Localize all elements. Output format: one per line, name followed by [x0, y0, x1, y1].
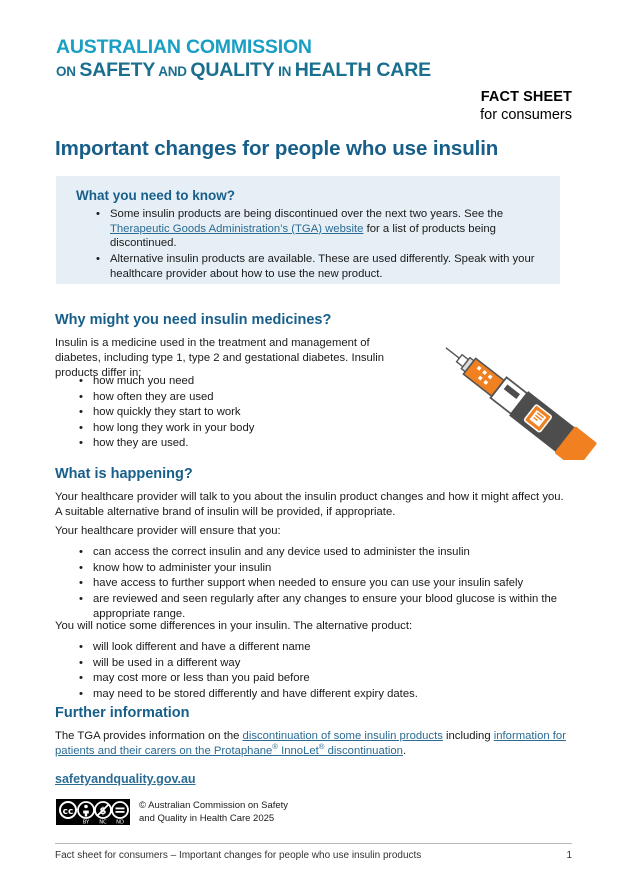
further-information-paragraph: The TGA provides information on the disc… [55, 729, 570, 759]
list-item: how often they are used [93, 390, 433, 406]
logo-word-quality: QUALITY [190, 59, 274, 81]
callout-box: What you need to know? Some insulin prod… [56, 176, 560, 284]
fact-sheet-audience: for consumers [480, 106, 572, 124]
fact-sheet-banner: FACT SHEET for consumers [480, 88, 572, 124]
callout-list: Some insulin products are being disconti… [76, 207, 542, 281]
happening-paragraph-1: Your healthcare provider will talk to yo… [55, 490, 570, 520]
list-item: how long they work in your body [93, 421, 433, 437]
list-item: how quickly they start to work [93, 405, 433, 421]
page-title: Important changes for people who use ins… [55, 137, 498, 161]
list-item: how much you need [93, 374, 433, 390]
tga-website-link[interactable]: Therapeutic Goods Administration’s (TGA)… [110, 223, 363, 235]
svg-text:ND: ND [116, 820, 124, 826]
list-item: can access the correct insulin and any d… [93, 545, 603, 561]
svg-text:NC: NC [99, 820, 107, 826]
list-item: may cost more or less than you paid befo… [93, 671, 603, 687]
logo-word-in: IN [275, 64, 295, 79]
logo-word-on: ON [56, 64, 79, 79]
heading-what-is-happening: What is happening? [55, 466, 193, 482]
insulin-pen-illustration [418, 330, 598, 460]
link-part-2: InnoLet [278, 745, 319, 757]
differences-bullet-list: will look different and have a different… [55, 640, 603, 702]
fact-sheet-page: AUSTRALIAN COMMISSION ON SAFETY AND QUAL… [0, 0, 627, 893]
commission-logo: AUSTRALIAN COMMISSION ON SAFETY AND QUAL… [56, 38, 431, 80]
insulin-pen-icon [418, 330, 598, 460]
logo-word-safety: SAFETY [79, 59, 155, 81]
copyright-line-1: © Australian Commission on Safety [139, 800, 288, 813]
list-item: will look different and have a different… [93, 640, 603, 656]
safetyandquality-site-link[interactable]: safetyandquality.gov.au [55, 772, 196, 786]
callout-item-text-before: Some insulin products are being disconti… [110, 208, 503, 220]
copyright-notice: © Australian Commission on Safety and Qu… [139, 800, 288, 826]
further-text-middle: including [443, 730, 494, 742]
list-item: have access to further support when need… [93, 576, 603, 592]
link-part-3: discontinuation [324, 745, 403, 757]
further-text-before: The TGA provides information on the [55, 730, 243, 742]
heading-further-information: Further information [55, 705, 190, 721]
happening-paragraph-3: You will notice some differences in your… [55, 619, 570, 634]
list-item: know how to administer your insulin [93, 561, 603, 577]
list-item: may need to be stored differently and ha… [93, 687, 603, 703]
svg-text:cc: cc [63, 807, 74, 817]
list-item: how they are used. [93, 436, 433, 452]
creative-commons-badge: cc $ BY NC ND [56, 799, 130, 825]
footer-document-title: Fact sheet for consumers – Important cha… [55, 850, 421, 861]
logo-line-2: ON SAFETY AND QUALITY IN HEALTH CARE [56, 61, 431, 81]
callout-heading: What you need to know? [76, 188, 542, 203]
happening-paragraph-2: Your healthcare provider will ensure tha… [55, 524, 570, 539]
fact-sheet-label: FACT SHEET [480, 88, 572, 106]
logo-word-health-care: HEALTH CARE [295, 59, 431, 81]
happening-bullet-list: can access the correct insulin and any d… [55, 545, 603, 623]
copyright-line-2: and Quality in Health Care 2025 [139, 813, 288, 826]
callout-item-text-before: Alternative insulin products are availab… [110, 253, 535, 280]
callout-item: Alternative insulin products are availab… [110, 252, 542, 281]
discontinuation-products-link[interactable]: discontinuation of some insulin products [243, 730, 443, 742]
heading-why-insulin: Why might you need insulin medicines? [55, 312, 331, 328]
why-bullet-list: how much you need how often they are use… [55, 374, 433, 452]
logo-line-1: AUSTRALIAN COMMISSION [56, 38, 431, 58]
further-text-after: . [403, 745, 406, 757]
logo-word-and: AND [155, 64, 190, 79]
list-item: will be used in a different way [93, 656, 603, 672]
footer-page-number: 1 [566, 850, 572, 861]
callout-item: Some insulin products are being disconti… [110, 207, 542, 251]
cc-by-nc-nd-icon: cc $ BY NC ND [56, 799, 130, 825]
footer-divider [55, 843, 572, 844]
svg-text:BY: BY [83, 820, 90, 826]
